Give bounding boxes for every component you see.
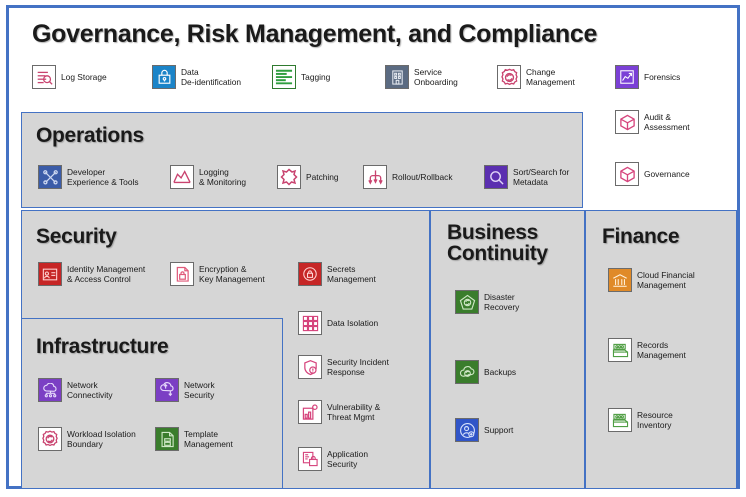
item-security-incident[interactable]: Security Incident Response <box>298 355 389 379</box>
item-data-deidentification[interactable]: Data De-identification <box>152 65 241 89</box>
backups-icon <box>455 360 479 384</box>
item-label: Logging & Monitoring <box>199 167 246 188</box>
item-sort-search-metadata[interactable]: Sort/Search for Metadata <box>484 165 569 189</box>
item-secrets-management[interactable]: Secrets Management <box>298 262 376 286</box>
item-label: Identity Management & Access Control <box>67 264 145 285</box>
item-label: Tagging <box>301 72 330 82</box>
item-label: Sort/Search for Metadata <box>513 167 569 188</box>
service-onboarding-icon <box>385 65 409 89</box>
identity-access-icon <box>38 262 62 286</box>
governance-icon <box>615 162 639 186</box>
item-log-storage[interactable]: Log Storage <box>32 65 107 89</box>
item-label: Template Management <box>184 429 233 450</box>
network-security-icon <box>155 378 179 402</box>
item-label: Cloud Financial Management <box>637 270 695 291</box>
item-vulnerability-threat[interactable]: Vulnerability & Threat Mgmt <box>298 400 380 424</box>
panel-business-continuity-title: Business Continuity <box>447 222 548 265</box>
change-management-icon <box>497 65 521 89</box>
item-label: Security Incident Response <box>327 357 389 378</box>
item-label: Data Isolation <box>327 318 378 328</box>
item-label: Rollout/Rollback <box>392 172 453 182</box>
item-label: Workload Isolation Boundary <box>67 429 136 450</box>
item-network-security[interactable]: Network Security <box>155 378 215 402</box>
panel-grc-title: Governance, Risk Management, and Complia… <box>32 22 597 48</box>
cloud-financial-icon <box>608 268 632 292</box>
panel-infrastructure-title: Infrastructure <box>36 336 168 357</box>
item-label: Disaster Recovery <box>484 292 519 313</box>
item-label: Governance <box>644 169 690 179</box>
item-label: Resource Inventory <box>637 410 673 431</box>
item-support[interactable]: Support <box>455 418 513 442</box>
item-label: Vulnerability & Threat Mgmt <box>327 402 380 423</box>
resource-inventory-icon <box>608 408 632 432</box>
panel-operations-title: Operations <box>36 125 144 146</box>
item-developer-tools[interactable]: Developer Experience & Tools <box>38 165 139 189</box>
item-label: Application Security <box>327 449 368 470</box>
sort-search-metadata-icon <box>484 165 508 189</box>
item-workload-isolation[interactable]: Workload Isolation Boundary <box>38 427 136 451</box>
item-label: Records Management <box>637 340 686 361</box>
data-isolation-icon <box>298 311 322 335</box>
patching-icon <box>277 165 301 189</box>
encryption-key-icon <box>170 262 194 286</box>
logging-monitoring-icon <box>170 165 194 189</box>
item-change-management[interactable]: Change Management <box>497 65 575 89</box>
item-data-isolation[interactable]: Data Isolation <box>298 311 378 335</box>
network-connectivity-icon <box>38 378 62 402</box>
item-service-onboarding[interactable]: Service Onboarding <box>385 65 458 89</box>
workload-isolation-icon <box>38 427 62 451</box>
item-identity-access[interactable]: Identity Management & Access Control <box>38 262 145 286</box>
item-cloud-financial[interactable]: Cloud Financial Management <box>608 268 695 292</box>
item-application-security[interactable]: Application Security <box>298 447 368 471</box>
item-label: Audit & Assessment <box>644 112 690 133</box>
vulnerability-threat-icon <box>298 400 322 424</box>
audit-assessment-icon <box>615 110 639 134</box>
application-security-icon <box>298 447 322 471</box>
item-label: Patching <box>306 172 339 182</box>
disaster-recovery-icon <box>455 290 479 314</box>
tagging-icon <box>272 65 296 89</box>
item-label: Backups <box>484 367 516 377</box>
data-deidentification-icon <box>152 65 176 89</box>
security-incident-icon <box>298 355 322 379</box>
item-label: Support <box>484 425 513 435</box>
item-encryption-key[interactable]: Encryption & Key Management <box>170 262 265 286</box>
item-tagging[interactable]: Tagging <box>272 65 330 89</box>
item-label: Service Onboarding <box>414 67 458 88</box>
item-label: Network Connectivity <box>67 380 113 401</box>
item-rollout-rollback[interactable]: Rollout/Rollback <box>363 165 453 189</box>
panel-security-title: Security <box>36 226 116 247</box>
item-patching[interactable]: Patching <box>277 165 339 189</box>
item-governance[interactable]: Governance <box>615 162 690 186</box>
item-disaster-recovery[interactable]: Disaster Recovery <box>455 290 519 314</box>
item-label: Encryption & Key Management <box>199 264 265 285</box>
item-label: Log Storage <box>61 72 107 82</box>
template-management-icon <box>155 427 179 451</box>
item-label: Secrets Management <box>327 264 376 285</box>
records-management-icon <box>608 338 632 362</box>
support-icon <box>455 418 479 442</box>
item-records-management[interactable]: Records Management <box>608 338 686 362</box>
forensics-icon <box>615 65 639 89</box>
rollout-rollback-icon <box>363 165 387 189</box>
log-storage-icon <box>32 65 56 89</box>
item-network-connectivity[interactable]: Network Connectivity <box>38 378 113 402</box>
item-forensics[interactable]: Forensics <box>615 65 680 89</box>
secrets-management-icon <box>298 262 322 286</box>
developer-tools-icon <box>38 165 62 189</box>
item-logging-monitoring[interactable]: Logging & Monitoring <box>170 165 246 189</box>
item-label: Change Management <box>526 67 575 88</box>
item-label: Network Security <box>184 380 215 401</box>
item-label: Developer Experience & Tools <box>67 167 139 188</box>
item-label: Data De-identification <box>181 67 241 88</box>
item-resource-inventory[interactable]: Resource Inventory <box>608 408 673 432</box>
item-template-management[interactable]: Template Management <box>155 427 233 451</box>
panel-finance-title: Finance <box>602 226 679 247</box>
diagram-canvas: Governance, Risk Management, and Complia… <box>0 0 746 497</box>
item-audit-assessment[interactable]: Audit & Assessment <box>615 110 690 134</box>
item-backups[interactable]: Backups <box>455 360 516 384</box>
item-label: Forensics <box>644 72 680 82</box>
